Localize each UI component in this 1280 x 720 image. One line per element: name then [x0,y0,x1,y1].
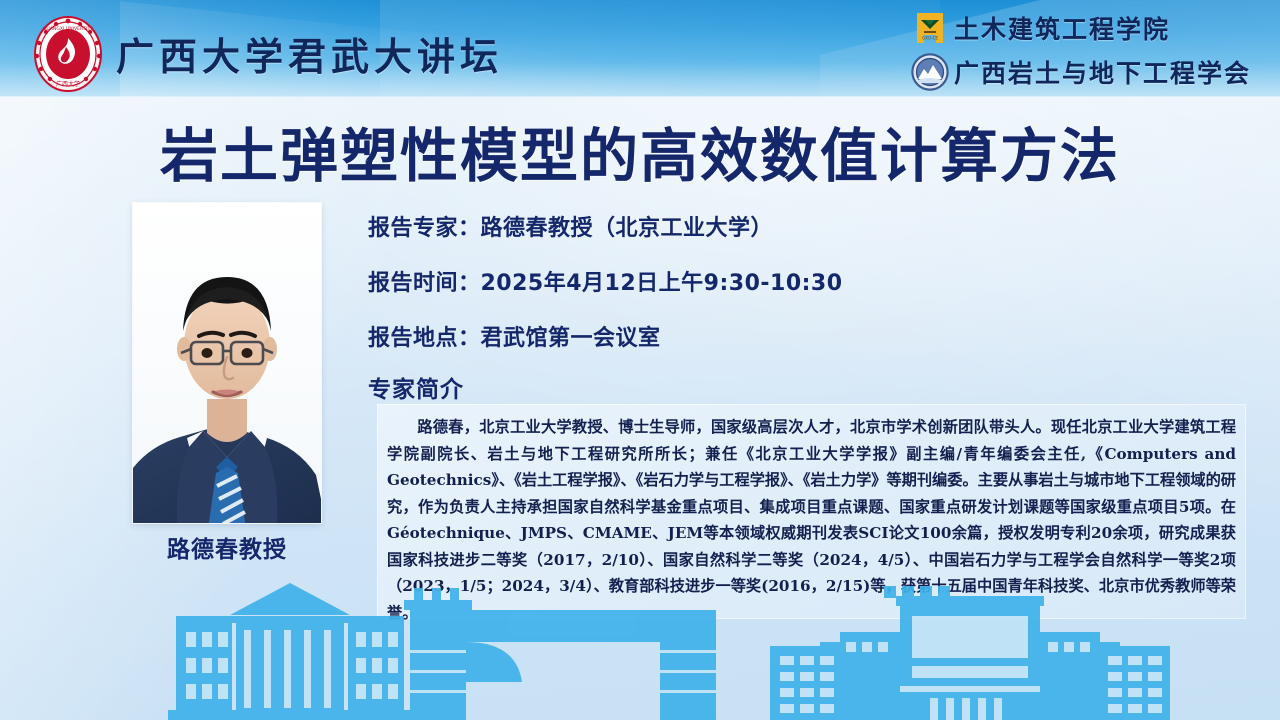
page-title: 岩土弹塑性模型的高效数值计算方法 [0,109,1280,193]
civil-engineering-school-logo-icon: GXU-CE [906,7,954,49]
header-banner: 广西大学 GUANGXI UNIVERSITY 广西大学君武大讲坛 GXU-CE… [0,0,1280,97]
info-speaker: 报告专家：路德春教授（北京工业大学） [368,210,1228,242]
main-hall-building [168,583,412,720]
org-label: 广西岩土与地下工程学会 [954,54,1251,90]
svg-text:广西大学: 广西大学 [56,80,80,88]
poster-root: 广西大学 GUANGXI UNIVERSITY 广西大学君武大讲坛 GXU-CE… [0,0,1280,720]
org-list: GXU-CE 土木建筑工程学院 广西岩土与地下工程学会 [906,6,1266,94]
speaker-photo [133,203,321,523]
gxu-emblem-icon: 广西大学 GUANGXI UNIVERSITY [28,14,108,94]
geotechnical-society-logo-icon [906,51,954,93]
info-location: 报告地点：君武馆第一会议室 [368,320,1228,352]
speaker-caption: 路德春教授 [133,530,321,564]
event-info: 报告专家：路德春教授（北京工业大学） 报告时间：2025年4月12日上午9:30… [368,210,1228,375]
svg-text:GXU-CE: GXU-CE [922,36,939,41]
org-row: GXU-CE 土木建筑工程学院 [906,6,1266,50]
org-label: 土木建筑工程学院 [954,10,1170,46]
bio-text: 路德春，北京工业大学教授、博士生导师，国家级高层次人才，北京市学术创新团队带头人… [377,404,1246,626]
forum-name: 广西大学君武大讲坛 [116,26,503,81]
svg-text:GUANGXI UNIVERSITY: GUANGXI UNIVERSITY [43,26,93,32]
bio-panel: 路德春，北京工业大学教授、博士生导师，国家级高层次人才，北京市学术创新团队带头人… [377,404,1246,619]
info-time: 报告时间：2025年4月12日上午9:30-10:30 [368,265,1228,297]
org-row: 广西岩土与地下工程学会 [906,50,1266,94]
bio-heading: 专家简介 [368,370,464,404]
